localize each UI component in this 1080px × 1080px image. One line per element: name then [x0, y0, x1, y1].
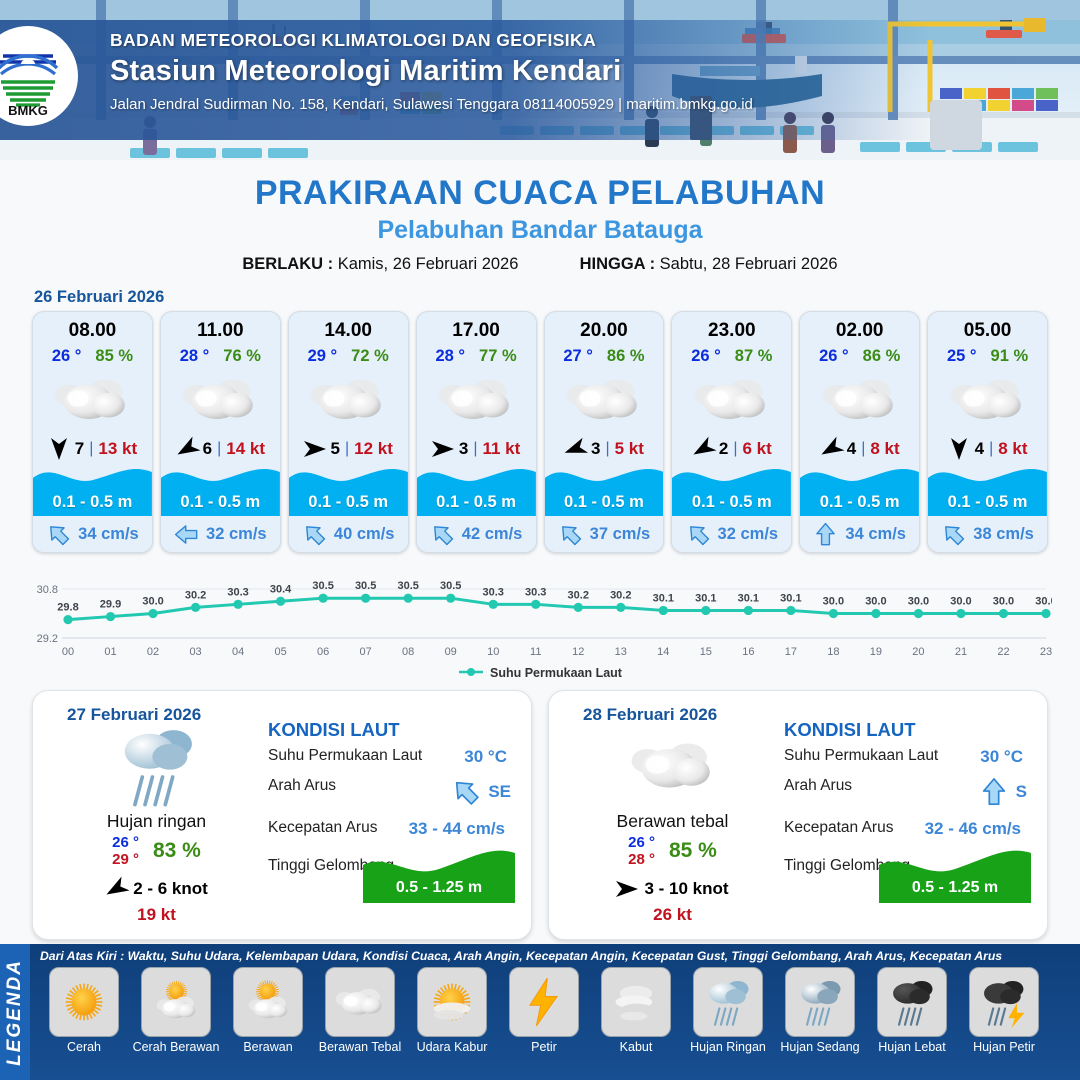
legend-item: Cerah Berawan [132, 967, 220, 1054]
svg-text:01: 01 [104, 646, 116, 658]
chart-legend: Suhu Permukaan Laut [0, 666, 1080, 680]
card-current: 32 cm/s [161, 516, 280, 552]
current-dir-value: SE [451, 777, 511, 807]
sun-cloud-shape [241, 975, 295, 1029]
card-wind-speed: 8 kt [998, 439, 1027, 459]
card-separator: | [605, 440, 609, 458]
cloud-shape [947, 374, 1029, 425]
daily-condition: Hujan ringan [49, 811, 264, 832]
wind-direction-icon [170, 433, 204, 465]
berlaku-value: Kamis, 26 Februari 2026 [338, 255, 519, 273]
svg-text:30.0: 30.0 [908, 596, 929, 608]
legend-item: Hujan Petir [960, 967, 1048, 1054]
card-current: 32 cm/s [672, 516, 791, 552]
svg-text:30.2: 30.2 [610, 589, 631, 601]
svg-text:14: 14 [657, 646, 669, 658]
svg-text:30.0: 30.0 [1035, 596, 1052, 608]
legend-item: Hujan Lebat [868, 967, 956, 1054]
card-separator: | [989, 440, 993, 458]
card-wave-height: 0.1 - 0.5 m [417, 493, 536, 512]
header-banner: BMKG BADAN METEOROLOGI KLIMATOLOGI DAN G… [0, 0, 1080, 160]
header-org: BADAN METEOROLOGI KLIMATOLOGI DAN GEOFIS… [110, 30, 753, 51]
petir-icon [509, 967, 579, 1037]
svg-text:23: 23 [1040, 646, 1052, 658]
svg-text:30.0: 30.0 [142, 596, 163, 608]
sst-label: Suhu Permukaan Laut [784, 747, 938, 765]
card-current-speed: 32 cm/s [718, 525, 779, 544]
berawan-tebal-icon [289, 368, 408, 430]
svg-text:30.5: 30.5 [440, 580, 461, 592]
legend-item: Cerah [40, 967, 128, 1054]
svg-text:17: 17 [785, 646, 797, 658]
card-temperature: 28 ° [435, 347, 465, 366]
cloud-shape [691, 374, 773, 425]
hingga-value: Sabtu, 28 Februari 2026 [660, 255, 838, 273]
card-current: 42 cm/s [417, 516, 536, 552]
cloud-shape [819, 374, 901, 425]
card-wind: 3 | 11 kt [417, 432, 536, 466]
kabut-icon [601, 967, 671, 1037]
svg-text:30.3: 30.3 [525, 586, 546, 598]
wind-direction-icon [814, 433, 848, 465]
legend-body: Dari Atas Kiri : Waktu, Suhu Udara, Kele… [30, 944, 1080, 1080]
card-wind: 4 | 8 kt [800, 432, 919, 466]
svg-text:15: 15 [700, 646, 712, 658]
card-temperature: 27 ° [563, 347, 593, 366]
cloud-shape [333, 985, 387, 1018]
legend-item-label: Cerah Berawan [132, 1040, 220, 1054]
card-temperature: 26 ° [691, 347, 721, 366]
svg-text:16: 16 [742, 646, 754, 658]
legend-item-label: Berawan [224, 1040, 312, 1054]
svg-text:30.0: 30.0 [950, 596, 971, 608]
bmkg-logo-icon: BMKG [0, 36, 65, 116]
legend-item-label: Petir [500, 1040, 588, 1054]
card-wind: 3 | 5 kt [545, 432, 664, 466]
rain-shape [793, 975, 847, 1029]
card-wind-speed: 6 kt [742, 439, 771, 459]
card-current-speed: 38 cm/s [973, 525, 1034, 544]
card-wave: 0.1 - 0.5 m [672, 464, 791, 516]
legend-item: Kabut [592, 967, 680, 1054]
svg-text:30.5: 30.5 [312, 580, 333, 592]
legend-caption: Dari Atas Kiri : Waktu, Suhu Udara, Kele… [40, 949, 1072, 963]
cloud-shape [179, 374, 261, 425]
svg-text:09: 09 [445, 646, 457, 658]
card-current-speed: 32 cm/s [206, 525, 267, 544]
card-current-speed: 40 cm/s [334, 525, 395, 544]
svg-text:30.2: 30.2 [185, 589, 206, 601]
current-speed-value: 32 - 46 cm/s [925, 819, 1021, 839]
hourly-card[interactable]: 05.00 25 ° 91 % 4 | 8 kt [927, 311, 1048, 553]
card-temperature: 25 ° [947, 347, 977, 366]
card-wind: 6 | 14 kt [161, 432, 280, 466]
hourly-card[interactable]: 23.00 26 ° 87 % 2 | 6 kt [671, 311, 792, 553]
hourly-card[interactable]: 08.00 26 ° 85 % 7 | 13 kt [32, 311, 153, 553]
daily-wind: 3 - 10 knot [565, 876, 780, 902]
card-time: 23.00 [672, 320, 791, 342]
card-wave-height: 0.1 - 0.5 m [928, 493, 1047, 512]
svg-text:30.3: 30.3 [227, 586, 248, 598]
card-separator: | [217, 440, 221, 458]
current-direction-icon [680, 516, 715, 551]
daily-left: 28 Februari 2026 Berawan tebal 26 ° 28 °… [565, 705, 780, 925]
hourly-card[interactable]: 14.00 29 ° 72 % 5 | 12 kt [288, 311, 409, 553]
card-wind-speed: 8 kt [870, 439, 899, 459]
svg-text:29.8: 29.8 [57, 602, 78, 614]
hourly-card[interactable]: 17.00 28 ° 77 % 3 | 11 kt [416, 311, 537, 553]
sst-value: 30 °C [464, 747, 507, 767]
daily-wind-range: 2 - 6 knot [133, 879, 208, 899]
hourly-card[interactable]: 11.00 28 ° 76 % 6 | 14 kt [160, 311, 281, 553]
title-block: PRAKIRAAN CUACA PELABUHAN Pelabuhan Band… [0, 160, 1080, 274]
current-direction-icon [979, 777, 1009, 807]
svg-text:07: 07 [360, 646, 372, 658]
daily-temps: 26 ° 29 ° 83 % [49, 834, 264, 869]
svg-text:13: 13 [615, 646, 627, 658]
daily-forecast-row: 27 Februari 2026 Hujan ringan 26 ° 29 ° … [0, 680, 1080, 940]
berawan-tebal-icon [800, 368, 919, 430]
hujan-ringan-icon [49, 727, 264, 805]
daily-temp-max: 29 ° [112, 851, 139, 868]
wind-direction-icon [302, 438, 328, 460]
legend-item-label: Hujan Lebat [868, 1040, 956, 1054]
current-direction-icon [425, 516, 460, 551]
berawan-tebal-icon [33, 368, 152, 430]
card-wave: 0.1 - 0.5 m [800, 464, 919, 516]
legend-item-label: Cerah [40, 1040, 128, 1054]
current-direction-icon [297, 516, 332, 551]
header-station: Stasiun Meteorologi Maritim Kendari [110, 55, 753, 88]
current-direction-icon [41, 516, 76, 551]
svg-text:30.3: 30.3 [483, 586, 504, 598]
card-wave: 0.1 - 0.5 m [417, 464, 536, 516]
current-dir-label: Arah Arus [784, 777, 852, 795]
card-humidity: 76 % [223, 347, 261, 366]
current-dir-label: Arah Arus [268, 777, 336, 795]
daily-forecast-card[interactable]: 27 Februari 2026 Hujan ringan 26 ° 29 ° … [32, 690, 532, 940]
sun-cloud-shape [149, 975, 203, 1029]
card-wave-height: 0.1 - 0.5 m [800, 493, 919, 512]
cloud-shape [435, 374, 517, 425]
daily-wind: 2 - 6 knot [49, 876, 264, 902]
current-speed-value: 33 - 44 cm/s [409, 819, 505, 839]
card-temperature: 26 ° [819, 347, 849, 366]
cloud-shape [307, 374, 389, 425]
berawan-tebal-icon [325, 967, 395, 1037]
card-wave: 0.1 - 0.5 m [545, 464, 664, 516]
current-direction-icon [813, 522, 838, 547]
svg-text:30.0: 30.0 [865, 596, 886, 608]
cloud-shape [51, 374, 133, 425]
card-time: 02.00 [800, 320, 919, 342]
card-wind: 2 | 6 kt [672, 432, 791, 466]
legend-items: Cerah Cerah Berawan [40, 967, 1072, 1054]
card-humidity: 77 % [479, 347, 517, 366]
card-time: 05.00 [928, 320, 1047, 342]
svg-text:29.2: 29.2 [37, 633, 58, 645]
berawan-tebal-icon [417, 368, 536, 430]
svg-text:22: 22 [997, 646, 1009, 658]
wind-direction-icon [99, 872, 133, 904]
hourly-forecast-row: 08.00 26 ° 85 % 7 | 13 kt [0, 311, 1080, 553]
card-time: 11.00 [161, 320, 280, 342]
svg-text:30.2: 30.2 [568, 589, 589, 601]
udara-kabur-icon [417, 967, 487, 1037]
svg-text:BMKG: BMKG [8, 103, 48, 116]
rain-shape [701, 975, 755, 1029]
header-text-block: BADAN METEOROLOGI KLIMATOLOGI DAN GEOFIS… [110, 30, 753, 113]
wave-height-value: 0.5 - 1.25 m [879, 879, 1031, 897]
berawan-tebal-icon [928, 368, 1047, 430]
wind-direction-icon [614, 878, 640, 900]
svg-text:30.1: 30.1 [738, 592, 759, 604]
legend-side-label: LEGENDA [4, 959, 26, 1066]
card-wind-dir-value: 3 [591, 439, 600, 459]
hourly-card[interactable]: 20.00 27 ° 86 % 3 | 5 kt [544, 311, 665, 553]
current-direction-icon [936, 516, 971, 551]
card-time: 20.00 [545, 320, 664, 342]
card-time: 14.00 [289, 320, 408, 342]
card-temperature: 29 ° [308, 347, 338, 366]
lightning-shape [517, 975, 571, 1029]
legend-item-label: Kabut [592, 1040, 680, 1054]
card-wind-dir-value: 2 [719, 439, 728, 459]
card-wind: 7 | 13 kt [33, 432, 152, 466]
fog-shape [609, 975, 663, 1029]
wave-height-badge: 0.5 - 1.25 m [879, 849, 1031, 903]
legend-item: Berawan Tebal [316, 967, 404, 1054]
berlaku-label: BERLAKU : [242, 255, 333, 273]
wave-height-value: 0.5 - 1.25 m [363, 879, 515, 897]
card-wave-height: 0.1 - 0.5 m [672, 493, 791, 512]
svg-text:12: 12 [572, 646, 584, 658]
daily-gust: 26 kt [565, 905, 780, 925]
legend-item: Berawan [224, 967, 312, 1054]
svg-text:30.0: 30.0 [993, 596, 1014, 608]
current-direction-icon [174, 522, 199, 547]
daily-sea-conditions: KONDISI LAUT Suhu Permukaan Laut 30 °C A… [780, 705, 1031, 925]
haze-shape [425, 975, 479, 1029]
page-title: PRAKIRAAN CUACA PELABUHAN [0, 174, 1080, 213]
card-wave-height: 0.1 - 0.5 m [161, 493, 280, 512]
card-current: 34 cm/s [33, 516, 152, 552]
card-current: 40 cm/s [289, 516, 408, 552]
svg-text:04: 04 [232, 646, 244, 658]
sst-value: 30 °C [980, 747, 1023, 767]
cloud-shape [563, 374, 645, 425]
wave-height-badge: 0.5 - 1.25 m [363, 849, 515, 903]
card-current-speed: 42 cm/s [462, 525, 523, 544]
daily-temp-max: 28 ° [628, 851, 655, 868]
svg-text:10: 10 [487, 646, 499, 658]
svg-text:30.1: 30.1 [653, 592, 674, 604]
berawan-tebal-icon [545, 368, 664, 430]
svg-text:30.1: 30.1 [695, 592, 716, 604]
legend-item-label: Hujan Petir [960, 1040, 1048, 1054]
svg-text:30.1: 30.1 [780, 592, 801, 604]
chart-legend-label: Suhu Permukaan Laut [490, 666, 622, 680]
cerah-icon [49, 967, 119, 1037]
wind-direction-icon [948, 436, 970, 462]
daily-sea-conditions: KONDISI LAUT Suhu Permukaan Laut 30 °C A… [264, 705, 515, 925]
card-time: 08.00 [33, 320, 152, 342]
card-current: 37 cm/s [545, 516, 664, 552]
card-wind: 4 | 8 kt [928, 432, 1047, 466]
berawan-icon [233, 967, 303, 1037]
card-wind-speed: 12 kt [354, 439, 393, 459]
card-separator: | [733, 440, 737, 458]
daily-date: 28 Februari 2026 [583, 705, 780, 725]
chart-legend-swatch [458, 666, 484, 680]
daily-temp-min: 26 ° [112, 834, 139, 851]
card-temperature: 28 ° [180, 347, 210, 366]
card-humidity: 91 % [991, 347, 1029, 366]
thunder-rain-shape [977, 975, 1031, 1029]
card-wind-dir-value: 6 [203, 439, 212, 459]
wind-direction-icon [559, 434, 591, 464]
card-current: 38 cm/s [928, 516, 1047, 552]
legend-item-label: Hujan Sedang [776, 1040, 864, 1054]
svg-text:30.4: 30.4 [270, 583, 292, 595]
wind-direction-icon [48, 436, 70, 462]
card-current: 34 cm/s [800, 516, 919, 552]
card-wind-dir-value: 4 [975, 439, 984, 459]
svg-text:30.0: 30.0 [823, 596, 844, 608]
daily-wind-range: 3 - 10 knot [644, 879, 728, 899]
hingga-label: HINGGA : [580, 255, 655, 273]
card-wind-speed: 11 kt [482, 439, 520, 459]
validity-range: BERLAKU : Kamis, 26 Februari 2026 HINGGA… [0, 255, 1080, 274]
current-speed-label: Kecepatan Arus [784, 819, 893, 837]
card-wind: 5 | 12 kt [289, 432, 408, 466]
card-wind-dir-value: 5 [331, 439, 340, 459]
card-wave-height: 0.1 - 0.5 m [545, 493, 664, 512]
card-wind-dir-value: 7 [75, 439, 84, 459]
svg-text:30.5: 30.5 [355, 580, 376, 592]
daily-forecast-card[interactable]: 28 Februari 2026 Berawan tebal 26 ° 28 °… [548, 690, 1048, 940]
card-separator: | [473, 440, 477, 458]
legend-item-label: Udara Kabur [408, 1040, 496, 1054]
card-wind-speed: 5 kt [615, 439, 644, 459]
card-humidity: 87 % [735, 347, 773, 366]
svg-text:20: 20 [912, 646, 924, 658]
legend-item: Petir [500, 967, 588, 1054]
sea-conditions-title: KONDISI LAUT [268, 719, 515, 741]
rain-shape [885, 975, 939, 1029]
daily-humidity: 83 % [153, 839, 201, 863]
card-wave: 0.1 - 0.5 m [33, 464, 152, 516]
hujan-sedang-icon [785, 967, 855, 1037]
legend-item-label: Berawan Tebal [316, 1040, 404, 1054]
hujan-ringan-icon [693, 967, 763, 1037]
svg-text:08: 08 [402, 646, 414, 658]
card-separator: | [861, 440, 865, 458]
card-separator: | [345, 440, 349, 458]
card-humidity: 86 % [607, 347, 645, 366]
svg-text:30.5: 30.5 [397, 580, 418, 592]
card-wave: 0.1 - 0.5 m [928, 464, 1047, 516]
svg-text:11: 11 [530, 646, 541, 658]
card-temperature: 26 ° [52, 347, 82, 366]
current-direction-icon [445, 771, 487, 813]
card-wave: 0.1 - 0.5 m [161, 464, 280, 516]
current-dir-value: S [979, 777, 1027, 807]
legend-bar: LEGENDA Dari Atas Kiri : Waktu, Suhu Uda… [0, 944, 1080, 1080]
wind-direction-icon [686, 433, 720, 465]
hourly-card[interactable]: 02.00 26 ° 86 % 4 | 8 kt [799, 311, 920, 553]
daily-humidity: 85 % [669, 839, 717, 863]
legend-item: Hujan Sedang [776, 967, 864, 1054]
current-speed-label: Kecepatan Arus [268, 819, 377, 837]
card-humidity: 85 % [95, 347, 133, 366]
wind-direction-icon [430, 438, 456, 460]
sst-chart: 30.829.229.80029.90130.00230.20330.30430… [28, 567, 1052, 662]
sea-conditions-title: KONDISI LAUT [784, 719, 1031, 741]
hourly-date-label: 26 Februari 2026 [34, 288, 1080, 307]
svg-text:30.8: 30.8 [37, 584, 58, 596]
daily-condition: Berawan tebal [565, 811, 780, 832]
legend-side-tab: LEGENDA [0, 944, 30, 1080]
page-subtitle: Pelabuhan Bandar Batauga [0, 216, 1080, 245]
legend-item: Udara Kabur [408, 967, 496, 1054]
berawan-tebal-icon [565, 727, 780, 805]
card-current-speed: 34 cm/s [845, 525, 906, 544]
card-wave-height: 0.1 - 0.5 m [289, 493, 408, 512]
cloud-shape [627, 737, 719, 794]
sst-label: Suhu Permukaan Laut [268, 747, 422, 765]
daily-temp-min: 26 ° [628, 834, 655, 851]
berawan-tebal-icon [672, 368, 791, 430]
header-contact: Jalan Jendral Sudirman No. 158, Kendari,… [110, 96, 753, 113]
card-wind-speed: 14 kt [226, 439, 265, 459]
card-current-speed: 34 cm/s [78, 525, 139, 544]
svg-text:18: 18 [827, 646, 839, 658]
card-wind-dir-value: 4 [847, 439, 856, 459]
card-wave: 0.1 - 0.5 m [289, 464, 408, 516]
card-humidity: 72 % [351, 347, 389, 366]
svg-text:06: 06 [317, 646, 329, 658]
daily-gust: 19 kt [49, 905, 264, 925]
rain-shape [111, 720, 203, 812]
svg-text:29.9: 29.9 [100, 599, 121, 611]
card-separator: | [89, 440, 93, 458]
svg-text:21: 21 [955, 646, 967, 658]
svg-text:19: 19 [870, 646, 882, 658]
card-wave-height: 0.1 - 0.5 m [33, 493, 152, 512]
card-wind-dir-value: 3 [459, 439, 468, 459]
card-wind-speed: 13 kt [98, 439, 137, 459]
hujan-lebat-icon [877, 967, 947, 1037]
cerah-berawan-icon [141, 967, 211, 1037]
current-direction-icon [552, 516, 587, 551]
berawan-tebal-icon [161, 368, 280, 430]
card-time: 17.00 [417, 320, 536, 342]
card-humidity: 86 % [863, 347, 901, 366]
svg-text:02: 02 [147, 646, 159, 658]
svg-text:05: 05 [274, 646, 286, 658]
legend-item-label: Hujan Ringan [684, 1040, 772, 1054]
svg-text:00: 00 [62, 646, 74, 658]
legend-item: Hujan Ringan [684, 967, 772, 1054]
daily-temps: 26 ° 28 ° 85 % [565, 834, 780, 869]
sun-shape [57, 975, 111, 1029]
card-current-speed: 37 cm/s [590, 525, 651, 544]
daily-left: 27 Februari 2026 Hujan ringan 26 ° 29 ° … [49, 705, 264, 925]
svg-text:03: 03 [189, 646, 201, 658]
hujan-petir-icon [969, 967, 1039, 1037]
